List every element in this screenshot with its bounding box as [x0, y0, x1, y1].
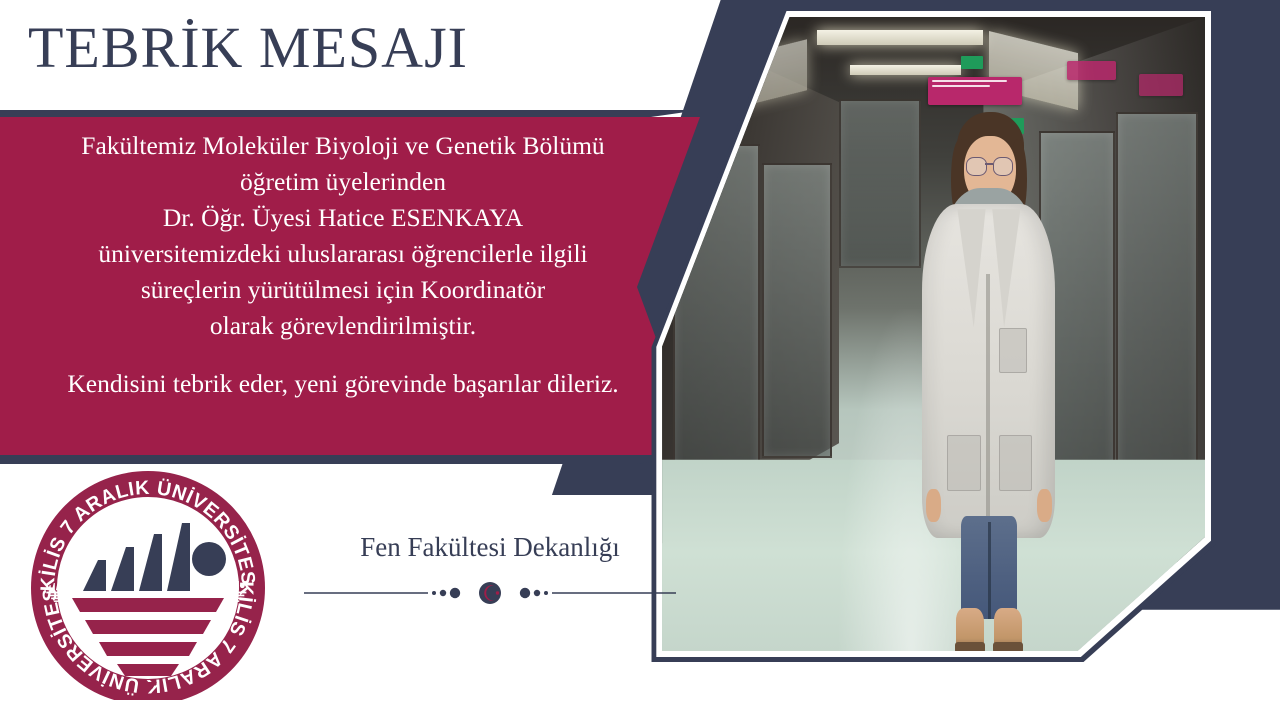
lab-coat-placket	[986, 274, 990, 538]
lab-coat-pocket	[947, 435, 981, 491]
message-line-3: Dr. Öğr. Üyesi Hatice ESENKAYA	[0, 200, 686, 236]
divider-dot	[534, 590, 540, 596]
message-panel-bottom-rule	[0, 455, 700, 464]
divider-dot	[520, 588, 530, 598]
emblem-layer-2	[85, 620, 211, 634]
mass-spectrometry-sign	[928, 77, 1022, 105]
corridor-sign	[1139, 74, 1183, 96]
university-logo: KİLİS 7 ARALIK ÜNİVERSİTESİ KİLİS 7 ARAL…	[28, 468, 268, 700]
message-text: Fakültemiz Moleküler Biyoloji ve Genetik…	[0, 128, 686, 402]
ceiling-light	[817, 30, 983, 45]
message-line-1: Fakültemiz Moleküler Biyoloji ve Genetik…	[0, 128, 686, 164]
boot-sole	[993, 642, 1023, 651]
person-figure	[906, 112, 1072, 651]
message-line-6: olarak görevlendirilmiştir.	[0, 308, 686, 344]
divider-svg	[300, 578, 680, 608]
eyeglasses-lens	[966, 157, 986, 176]
message-line-2: öğretim üyelerinden	[0, 164, 686, 200]
emblem-dot	[192, 542, 226, 576]
jeans-seam	[988, 522, 991, 619]
congratulations-poster: TEBRİK MESAJI Fakültemiz Moleküler Biyol…	[0, 0, 1280, 720]
lab-coat-pocket	[999, 435, 1033, 491]
divider-dot	[432, 591, 436, 595]
ceiling-light	[850, 65, 961, 75]
message-closing-line: Kendisini tebrik eder, yeni görevinde ba…	[0, 366, 686, 402]
lab-coat-pocket	[999, 328, 1028, 373]
exit-sign	[961, 56, 983, 69]
divider-dot	[440, 590, 446, 596]
lab-corridor-photo	[651, 17, 1205, 651]
department-label: Fen Fakültesi Dekanlığı	[300, 532, 680, 563]
emblem-layer-3	[99, 642, 197, 656]
lab-glass-door	[762, 163, 832, 459]
university-seal-svg: KİLİS 7 ARALIK ÜNİVERSİTESİ KİLİS 7 ARAL…	[28, 468, 268, 700]
decorative-divider	[300, 578, 680, 608]
emblem-layer-4	[117, 664, 179, 676]
hand	[1037, 489, 1052, 521]
page-title: TEBRİK MESAJI	[28, 14, 468, 81]
photo-frame	[640, 6, 1216, 662]
lab-glass-door	[1116, 112, 1198, 496]
corridor-sign	[1067, 61, 1117, 80]
message-line-5: süreçlerin yürütülmesi için Koordinatör	[0, 272, 686, 308]
eyeglasses-lens	[993, 157, 1013, 176]
eyeglasses-bridge	[985, 163, 993, 165]
message-panel-top-rule	[0, 110, 700, 118]
message-line-4: üniversitemizdeki uluslararası öğrencile…	[0, 236, 686, 272]
star-icon	[496, 591, 499, 594]
message-spacer	[0, 344, 686, 366]
hand	[926, 489, 941, 521]
divider-dot	[450, 588, 460, 598]
divider-dot	[544, 591, 548, 595]
emblem-layer-1	[72, 598, 224, 612]
boot-sole	[955, 642, 985, 651]
